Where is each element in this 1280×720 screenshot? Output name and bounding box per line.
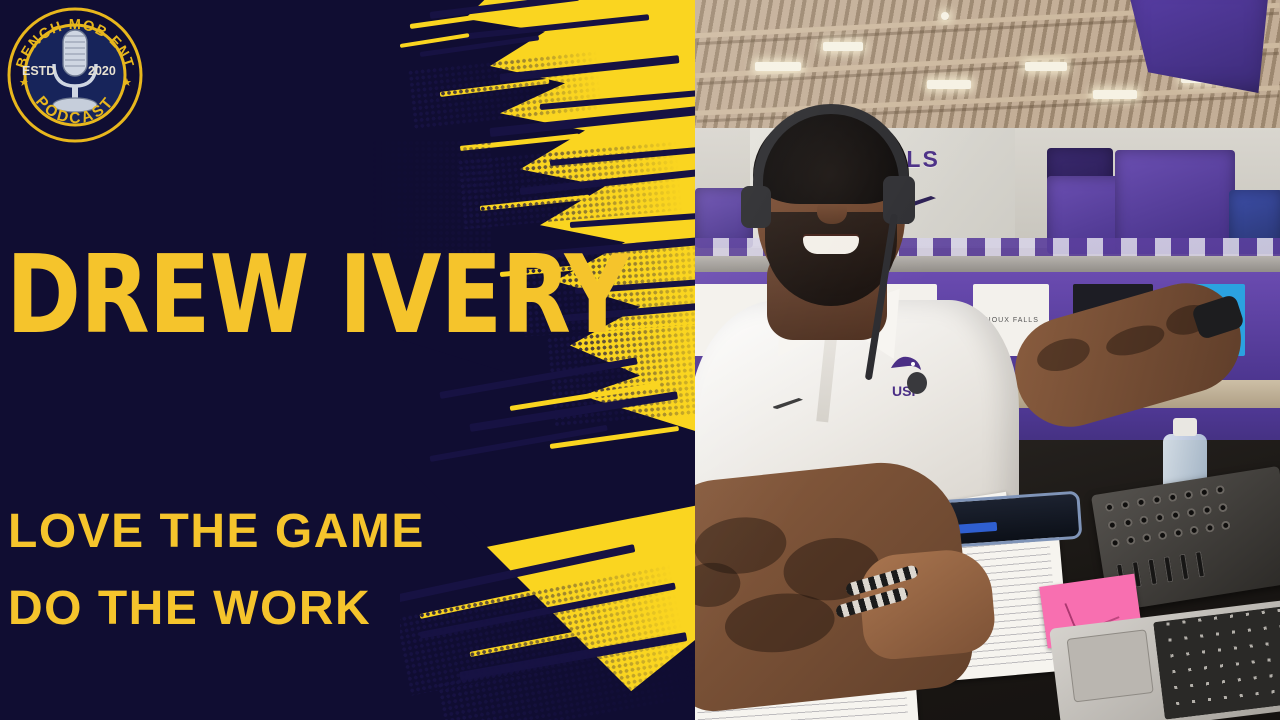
ceiling-light [755, 62, 801, 71]
ceiling-light [1093, 90, 1137, 99]
bench-mob-ent-podcast-logo[interactable]: BENCH MOB ENT PODCAST ★ ★ ESTD 2020 [4, 4, 146, 146]
ceiling-light [823, 42, 863, 51]
ceiling-light [1025, 62, 1067, 71]
tagline-line-1: LOVE THE GAME [8, 508, 425, 556]
ceiling-light [941, 12, 949, 20]
thumbnail-canvas: BENCH MOB ENT PODCAST ★ ★ ESTD 2020 DREW… [0, 0, 1280, 720]
headset-earcup-left [741, 186, 771, 228]
logo-star-right-icon: ★ [122, 77, 132, 89]
headset-earcup-right [883, 176, 915, 224]
brush-streak [550, 147, 700, 166]
brush-streak [570, 212, 700, 228]
logo-estd-text: ESTD [22, 64, 55, 78]
logo-star-left-icon: ★ [19, 77, 29, 89]
laptop-trackpad[interactable] [1067, 629, 1154, 702]
guest-photo: SIOUX FALLS COUGARS pepsi SIOUX FALLS [695, 0, 1280, 720]
tagline-line-2: DO THE WORK [8, 585, 371, 633]
brush-streak [540, 90, 700, 110]
headset-microphone-icon [907, 372, 927, 394]
left-graphic-panel: BENCH MOB ENT PODCAST ★ ★ ESTD 2020 DREW… [0, 0, 700, 720]
smile [803, 236, 859, 254]
ceiling-light [927, 80, 971, 89]
grunge-brush-graphic [400, 0, 700, 720]
laptop-keyboard[interactable] [1153, 606, 1280, 719]
brush-streak [500, 55, 680, 82]
logo-year-text: 2020 [88, 64, 116, 78]
guest-name-title: DREW IVERY [6, 242, 629, 350]
